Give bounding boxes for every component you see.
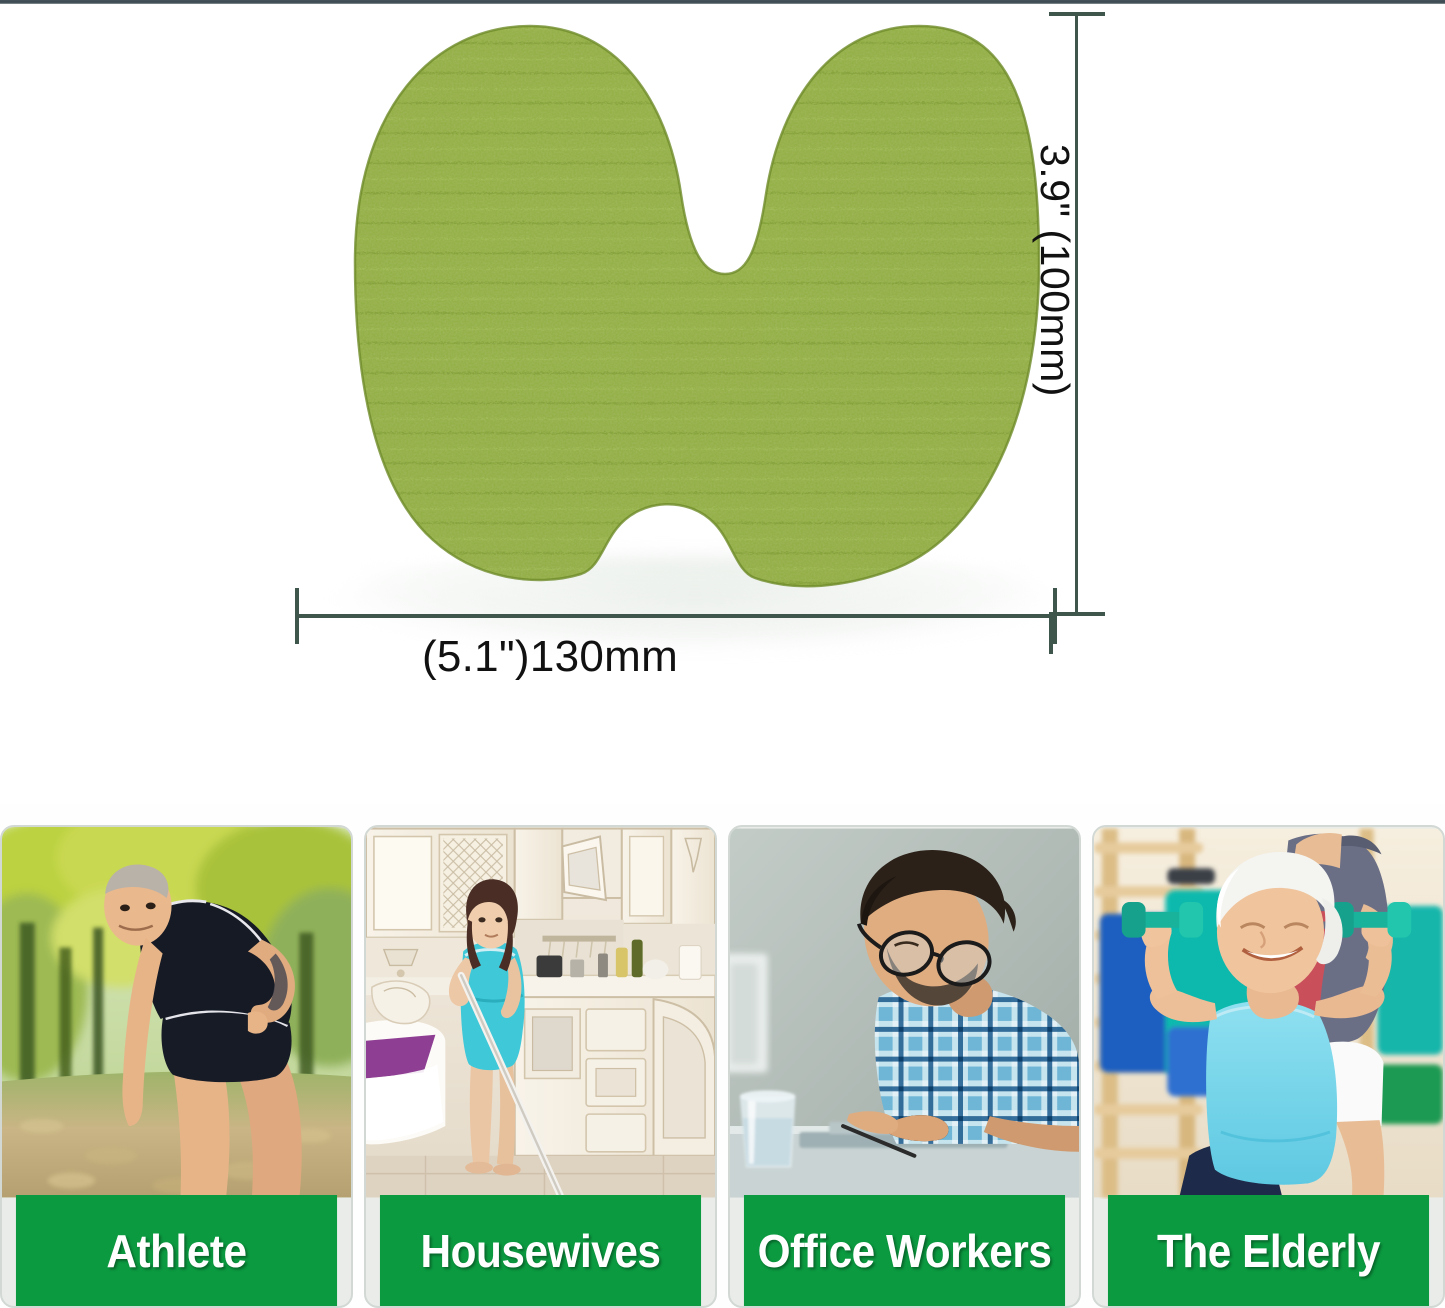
- product-listing-page: 3.9" (100mm) (5.1")130mm: [0, 0, 1445, 1308]
- persona-card-the-elderly[interactable]: The Elderly: [1092, 825, 1445, 1308]
- housewives-photo: [366, 827, 715, 1199]
- persona-label-the-elderly: The Elderly: [1108, 1195, 1429, 1306]
- office-workers-photo: [730, 827, 1079, 1199]
- persona-label-athlete: Athlete: [16, 1195, 337, 1306]
- height-dimension-cap-bottom: [1049, 612, 1105, 616]
- the-elderly-photo: [1094, 827, 1443, 1199]
- persona-label-housewives: Housewives: [380, 1195, 701, 1306]
- persona-card-housewives[interactable]: Housewives: [364, 825, 717, 1308]
- persona-card-athlete[interactable]: Athlete: [0, 825, 353, 1308]
- persona-strip: Athlete: [0, 825, 1445, 1308]
- height-dimension-label: 3.9" (100mm): [1031, 144, 1078, 484]
- width-dimension-line: [297, 614, 1057, 618]
- persona-label-office-workers: Office Workers: [744, 1195, 1065, 1306]
- product-patch-image: [285, 12, 1055, 602]
- width-dimension-label: (5.1")130mm: [0, 632, 1100, 682]
- persona-card-office-workers[interactable]: Office Workers: [728, 825, 1081, 1308]
- product-hero-section: 3.9" (100mm) (5.1")130mm: [0, 4, 1445, 804]
- athlete-photo: [2, 827, 351, 1199]
